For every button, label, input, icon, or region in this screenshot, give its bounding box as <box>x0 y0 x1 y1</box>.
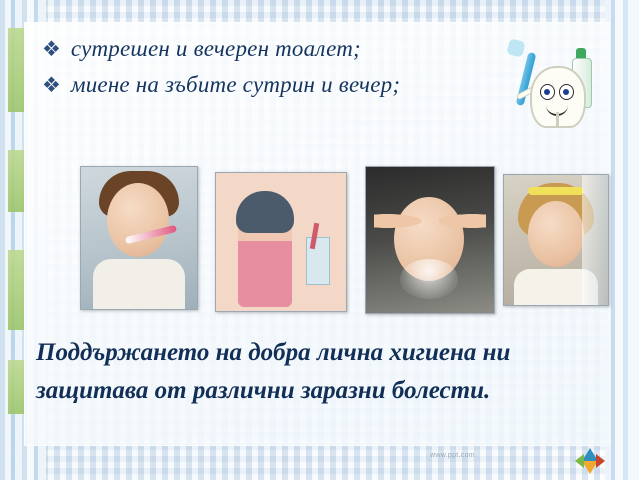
closing-line-1: Поддържането на добра лична хигиена ни <box>36 334 576 372</box>
toothbrush-head-icon <box>506 38 525 57</box>
credit-watermark: www.ppt.com <box>430 452 475 459</box>
cartoon-girl-washing-photo <box>215 172 347 312</box>
list-item: ❖ сутрешен и вечерен тоалет; <box>42 36 512 62</box>
bullet-text-1: сутрешен и вечерен тоалет; <box>71 36 361 62</box>
green-accent-bar-1 <box>8 28 24 112</box>
hands-shape <box>374 201 486 241</box>
tooth-character-icon <box>530 66 586 128</box>
tooth-eye-left <box>540 84 555 100</box>
water-splash-shape <box>400 259 458 299</box>
corner-logo-icon <box>575 448 605 474</box>
hair-shape <box>236 191 294 233</box>
green-accent-bar-4 <box>8 360 24 414</box>
mirror-shape <box>582 175 608 305</box>
face-shape <box>107 183 169 257</box>
diamond-bullet-icon: ❖ <box>42 39 61 60</box>
bullet-list: ❖ сутрешен и вечерен тоалет; ❖ миене на … <box>42 36 512 108</box>
tooth-mascot-illustration <box>500 38 610 138</box>
headband-shape <box>528 187 584 195</box>
slide-canvas: ❖ сутрешен и вечерен тоалет; ❖ миене на … <box>0 0 639 480</box>
tooth-smile <box>546 104 568 116</box>
green-accent-bar-2 <box>8 150 24 212</box>
diamond-bullet-icon: ❖ <box>42 75 61 96</box>
face-shape <box>528 201 584 267</box>
list-item: ❖ миене на зъбите сутрин и вечер; <box>42 72 512 98</box>
closing-line-2: защитава от различни заразни болести. <box>36 372 576 410</box>
right-stripe-decoration <box>605 0 639 480</box>
girl-at-mirror-photo <box>503 174 609 306</box>
woman-washing-face-photo <box>365 166 495 314</box>
body-shape <box>93 259 185 310</box>
photo-strip <box>60 152 580 318</box>
green-accent-bar-3 <box>8 250 24 330</box>
closing-statement: Поддържането на добра лична хигиена ни з… <box>36 334 576 409</box>
tooth-eye-right <box>559 84 574 100</box>
girl-brushing-teeth-photo <box>80 166 198 310</box>
bullet-text-2: миене на зъбите сутрин и вечер; <box>71 72 400 98</box>
